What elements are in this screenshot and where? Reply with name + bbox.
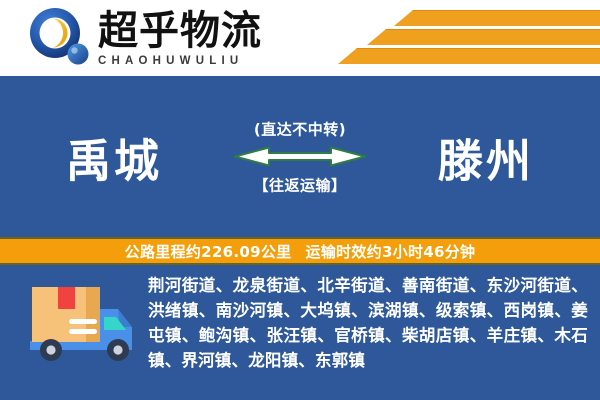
stripe-1	[394, 10, 600, 26]
delivery-truck-icon	[14, 279, 138, 367]
double-headed-arrow-icon	[229, 141, 371, 171]
coverage-section: 荆河街道、龙泉街道、北辛街道、善南街道、东沙河街道、洪绪镇、南沙河镇、大坞镇、滨…	[0, 265, 600, 400]
destination-city: 滕州	[438, 124, 534, 189]
decorative-stripes	[334, 8, 600, 70]
round-trip-note: 【往返运输】	[253, 174, 346, 195]
route-section: 禹城 (直达不中转) 【往返运输】 滕州	[0, 76, 600, 237]
origin-city: 禹城	[66, 124, 162, 189]
brand-logo[interactable]: 超乎物流 CHAOHUWULIU	[26, 6, 262, 70]
stripe-3	[338, 48, 600, 64]
distance-label: 公路里程约226.09公里	[125, 241, 292, 262]
duration-label: 运输时效约3小时46分钟	[305, 241, 475, 262]
route-middle: (直达不中转) 【往返运输】	[200, 118, 400, 195]
banner-header: 超乎物流 CHAOHUWULIU	[0, 0, 600, 76]
logistics-route-banner: 超乎物流 CHAOHUWULIU 禹城 (直达不中转) 【往返运输】 滕州 公路…	[0, 0, 600, 400]
direct-service-note: (直达不中转)	[254, 118, 346, 139]
brand-name-en: CHAOHUWULIU	[98, 55, 262, 67]
coverage-area-list: 荆河街道、龙泉街道、北辛街道、善南街道、东沙河街道、洪绪镇、南沙河镇、大坞镇、滨…	[148, 273, 588, 373]
circle-crescent-logo-icon	[26, 6, 92, 70]
route-info-bar: 公路里程约226.09公里 运输时效约3小时46分钟	[0, 237, 600, 265]
stripe-2	[367, 29, 600, 45]
brand-name-cn: 超乎物流	[98, 11, 262, 52]
